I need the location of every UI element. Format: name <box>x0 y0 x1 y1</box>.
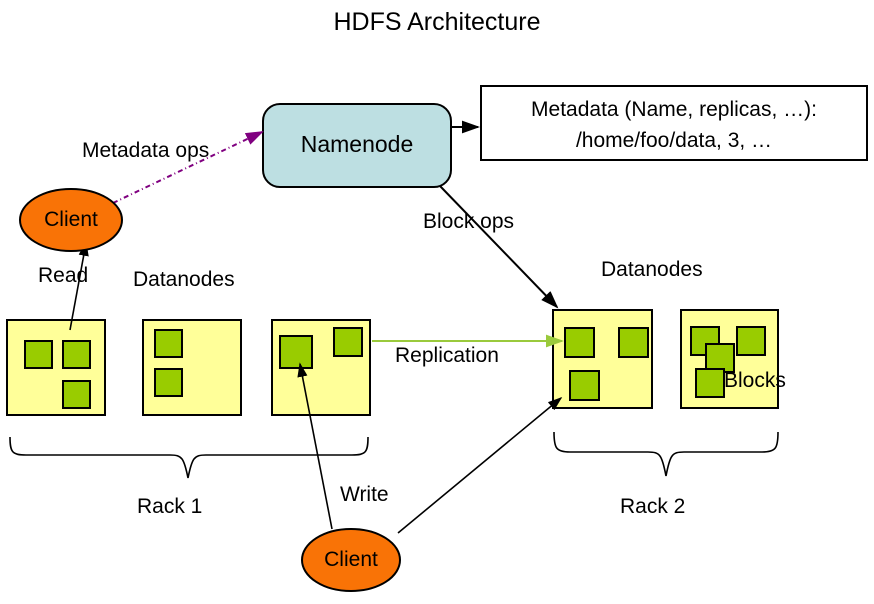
block <box>334 328 362 356</box>
datanode-rack2-1[interactable] <box>553 310 652 408</box>
block-ops-label: Block ops <box>423 210 514 234</box>
page-title: HDFS Architecture <box>0 8 874 37</box>
block <box>155 330 182 357</box>
datanode-rack1-3[interactable] <box>272 320 370 415</box>
block <box>280 336 312 368</box>
replication-label: Replication <box>395 344 499 368</box>
rack1-brace <box>10 437 368 478</box>
block <box>25 341 52 368</box>
rack1-label: Rack 1 <box>137 495 202 519</box>
datanodes-rack2-label: Datanodes <box>601 258 703 282</box>
block <box>63 341 90 368</box>
datanodes-rack1-label: Datanodes <box>133 268 235 292</box>
block <box>706 344 734 372</box>
client-read-label: Client <box>20 208 122 232</box>
write-label: Write <box>340 483 389 507</box>
blocks-label: Blocks <box>724 369 786 393</box>
namenode-label: Namenode <box>263 131 451 158</box>
metadata-line-2: /home/foo/data, 3, … <box>481 125 867 156</box>
read-label: Read <box>38 264 88 288</box>
block-ops-arrow <box>440 186 557 307</box>
datanode-rack2-2[interactable] <box>681 310 778 408</box>
metadata-box-text: Metadata (Name, replicas, …): /home/foo/… <box>481 94 867 156</box>
metadata-ops-label: Metadata ops <box>82 139 209 163</box>
block <box>696 369 724 397</box>
diagram-shapes <box>0 0 874 604</box>
datanode-rack1-1[interactable] <box>7 320 105 415</box>
block <box>565 328 594 357</box>
block <box>619 328 648 357</box>
block <box>570 371 599 400</box>
diagram-canvas: HDFS Architecture Namenode Metadata (Nam… <box>0 0 874 604</box>
client-write-label: Client <box>302 548 400 572</box>
rack2-brace <box>554 432 778 476</box>
write-arrow-rack2 <box>398 398 561 533</box>
block <box>155 369 182 396</box>
rack2-label: Rack 2 <box>620 495 685 519</box>
metadata-line-1: Metadata (Name, replicas, …): <box>481 94 867 125</box>
block <box>63 381 90 408</box>
datanode-rack1-2[interactable] <box>143 320 241 415</box>
block <box>737 327 765 355</box>
